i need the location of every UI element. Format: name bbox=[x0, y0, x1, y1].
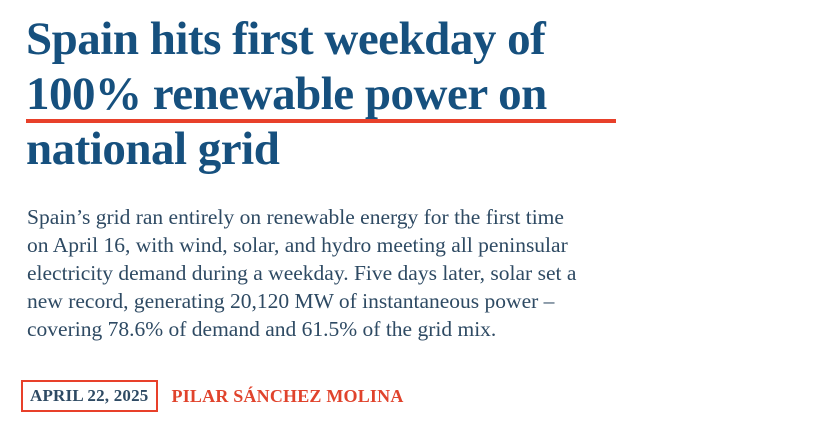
headline-line-2: 100% renewable power on bbox=[26, 67, 766, 122]
headline-line-2-wrapper: 100% renewable power on bbox=[26, 67, 766, 122]
byline: APRIL 22, 2025 PILAR SÁNCHEZ MOLINA bbox=[21, 380, 404, 412]
article-standfirst: Spain’s grid ran entirely on renewable e… bbox=[27, 203, 802, 343]
standfirst-line-4: new record, generating 20,120 MW of inst… bbox=[27, 287, 802, 315]
standfirst-line-1: Spain’s grid ran entirely on renewable e… bbox=[27, 203, 802, 231]
headline-underline-rule bbox=[26, 119, 616, 123]
article-header: Spain hits first weekday of 100% renewab… bbox=[0, 0, 824, 431]
headline-line-3: national grid bbox=[26, 122, 766, 177]
page-title: Spain hits first weekday of 100% renewab… bbox=[26, 12, 766, 177]
author-link[interactable]: PILAR SÁNCHEZ MOLINA bbox=[172, 386, 404, 407]
standfirst-line-5: covering 78.6% of demand and 61.5% of th… bbox=[27, 315, 802, 343]
standfirst-line-2: on April 16, with wind, solar, and hydro… bbox=[27, 231, 802, 259]
standfirst-line-3: electricity demand during a weekday. Fiv… bbox=[27, 259, 802, 287]
headline-line-1: Spain hits first weekday of bbox=[26, 12, 766, 67]
publish-date-badge: APRIL 22, 2025 bbox=[21, 380, 158, 412]
